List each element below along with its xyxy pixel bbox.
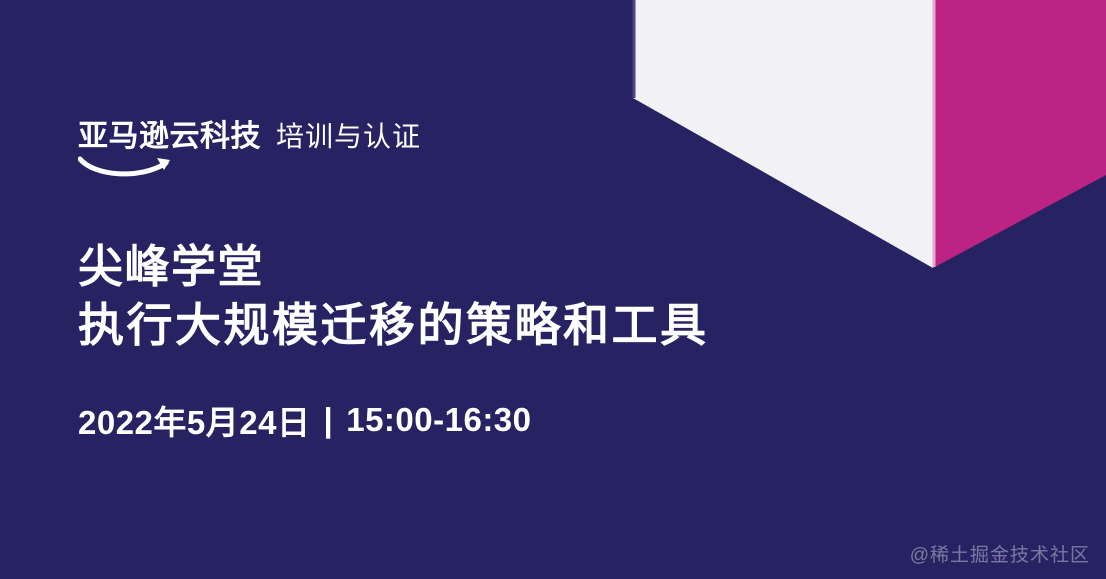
event-time: 15:00-16:30 (346, 401, 531, 439)
event-date: 2022年5月24日 (78, 396, 310, 444)
promo-slide: 亚马逊云科技 培训与认证 尖峰学堂 执行大规模迁移的策略和工具 2022年5月2… (0, 0, 1106, 579)
headline-line-2: 执行大规模迁移的策略和工具 (78, 296, 709, 355)
brand-logo-lockup: 亚马逊云科技 培训与认证 (78, 122, 421, 152)
event-schedule: 2022年5月24日 | 15:00-16:30 (78, 396, 532, 444)
aws-wordmark: 亚马逊云科技 (78, 122, 250, 152)
page-title: 尖峰学堂 执行大规模迁移的策略和工具 (78, 238, 709, 354)
logo-subbrand-label: 培训与认证 (276, 122, 421, 151)
schedule-separator: | (323, 401, 333, 439)
watermark-label: @稀土掘金技术社区 (910, 540, 1090, 567)
magenta-block-shape (933, 0, 1106, 268)
amazon-smile-arrow-icon (78, 155, 178, 179)
aws-logo: 亚马逊云科技 (78, 122, 250, 152)
headline-line-1: 尖峰学堂 (78, 238, 709, 296)
white-block-shape (633, 0, 933, 268)
